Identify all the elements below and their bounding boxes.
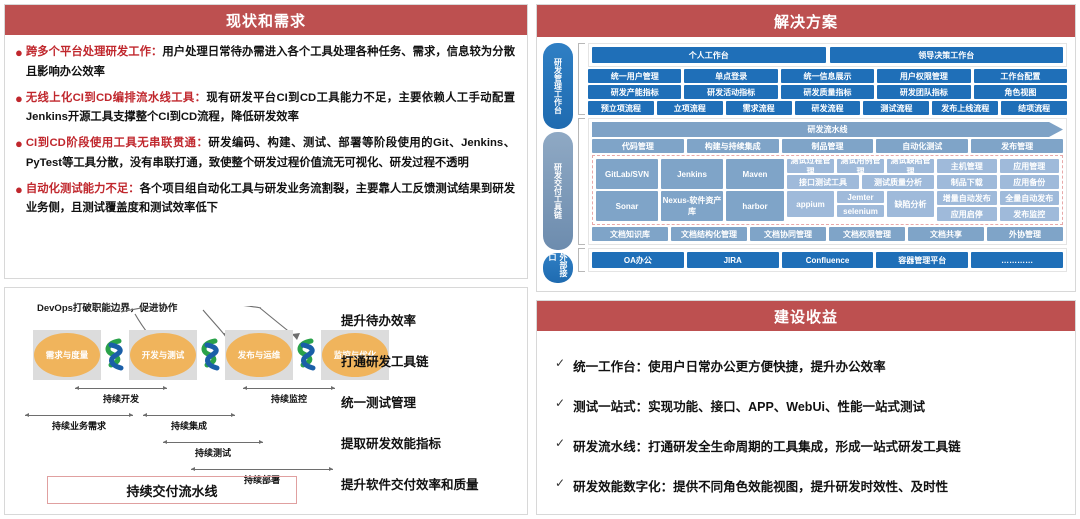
devops-diagram: DevOps打破职能边界，促进协作 需求与度量 (5, 288, 527, 514)
gains-card-header: 建设收益 (537, 301, 1075, 331)
solution-card-header: 解决方案 (537, 5, 1075, 37)
workbench-personal[interactable]: 个人工作台 (592, 47, 826, 63)
deploy-tile[interactable]: 应用启停 (937, 207, 997, 221)
bullet-lead: CI到CD阶段使用工具无串联贯通： (26, 137, 208, 149)
module-tile[interactable]: 统一信息展示 (781, 69, 874, 83)
workbench-group: 个人工作台 领导决策工作台 统一用户管理 单点登录 统一信息展示 用户权限管理 … (578, 43, 1067, 115)
module-tile[interactable]: 预立项流程 (588, 101, 654, 115)
deploy-tile[interactable]: 应用备份 (1000, 175, 1060, 189)
gain-lead: 研发效能数字化： (573, 480, 673, 494)
list-item: ● 自动化测试能力不足：各个项目组自动化工具与研发业务流割裂，主要靠人工反馈测试… (15, 180, 515, 220)
module-tile[interactable]: 研发流程 (795, 101, 861, 115)
test-tile-selenium[interactable]: selenium (837, 205, 884, 217)
doc-tile[interactable]: 文档结构化管理 (671, 227, 747, 241)
workbench-leader[interactable]: 领导决策工作台 (830, 47, 1064, 63)
devops-stage: 开发与测试 (129, 330, 197, 380)
list-item: ✓ 研发效能数字化：提供不同角色效能视图，提升研发时效性、及时性 (555, 476, 1059, 495)
bullet-dot-icon: ● (15, 89, 23, 109)
phase-arrow-line (243, 388, 335, 389)
module-tile[interactable]: 统一用户管理 (588, 69, 681, 83)
layer-tab-management-workbench: 研发管理工作台 (543, 43, 573, 129)
phase-arrow-label: 持续集成 (171, 419, 207, 432)
layer-tab-delivery-toolchain: 研发交付工具链 (543, 132, 573, 250)
gain-rest: 实现功能、接口、APP、WebUi、性能一站式测试 (648, 400, 925, 414)
toolchain-box: 研发流水线 代码管理 构建与持续集成 制品管理 自动化测试 发布管理 (588, 118, 1067, 245)
check-icon: ✓ (555, 396, 565, 410)
tool-tile[interactable]: Nexus-软件资产库 (661, 191, 723, 221)
check-icon: ✓ (555, 356, 565, 370)
architecture-diagram: 研发管理工作台 研发交付工具链 外部接口 个人工作台 领导决策工作台 (537, 37, 1075, 291)
tool-tile[interactable]: Maven (726, 159, 784, 189)
architecture-content: 个人工作台 领导决策工作台 统一用户管理 单点登录 统一信息展示 用户权限管理 … (578, 43, 1067, 287)
external-tile[interactable]: ………… (971, 252, 1063, 268)
check-icon: ✓ (555, 436, 565, 450)
list-item: ● 无线上化CI到CD编排流水线工具：现有研发平台CI到CD工具能力不足，主要依… (15, 89, 515, 129)
right-column: 解决方案 研发管理工作台 研发交付工具链 外部接口 个人工作台 领导决策工作 (536, 4, 1076, 515)
group-brace (578, 248, 585, 272)
deploy-tile[interactable]: 制品下载 (937, 175, 997, 189)
tool-column-artifact: Maven harbor (726, 159, 784, 221)
tool-tile[interactable]: Sonar (596, 191, 658, 221)
test-tile-jmeter[interactable]: Jemter (837, 191, 884, 203)
slide-root: 现状和需求 ● 跨多个平台处理研发工作：用户处理日常待办需进入各个工具处理各种任… (0, 0, 1080, 519)
devops-diagram-card: DevOps打破职能边界，促进协作 需求与度量 (4, 287, 528, 515)
tool-column-code: GitLab/SVN Sonar (596, 159, 658, 221)
module-tile[interactable]: 研发活动指标 (684, 85, 777, 99)
gain-lead: 统一工作台： (573, 360, 648, 374)
doc-tile[interactable]: 文档知识库 (592, 227, 668, 241)
bullet-lead: 无线上化CI到CD编排流水线工具： (26, 92, 206, 104)
external-tile[interactable]: 容器管理平台 (876, 252, 968, 268)
gain-rest: 使用户日常办公更方便快捷，提升办公效率 (648, 360, 886, 374)
deploy-tile[interactable]: 应用管理 (1000, 159, 1060, 173)
workbench-row: 统一用户管理 单点登录 统一信息展示 用户权限管理 工作台配置 (588, 69, 1067, 83)
list-item: 打通研发工具链 (341, 351, 519, 370)
check-icon: ✓ (555, 476, 565, 490)
list-item: ● 跨多个平台处理研发工作：用户处理日常待办需进入各个工具处理各种任务、需求，信… (15, 43, 515, 83)
gain-rest: 打通研发全生命周期的工具集成，形成一站式研发工具链 (648, 440, 961, 454)
group-brace (578, 118, 585, 245)
deploy-tile[interactable]: 主机管理 (937, 159, 997, 173)
workbench-row: 预立项流程 立项流程 需求流程 研发流程 测试流程 发布上线流程 结项流程 (588, 101, 1067, 115)
gain-rest: 提供不同角色效能视图，提升研发时效性、及时性 (673, 480, 948, 494)
test-tile[interactable]: 测试质量分析 (862, 175, 934, 189)
list-item: 提取研发效能指标 (341, 433, 519, 452)
status-bullet-list: ● 跨多个平台处理研发工作：用户处理日常待办需进入各个工具处理各种任务、需求，信… (5, 35, 527, 229)
module-tile[interactable]: 研发产能指标 (588, 85, 681, 99)
arrow-row: 持续业务需求 持续集成 (23, 411, 333, 438)
module-tile[interactable]: 发布上线流程 (932, 101, 998, 115)
phase-arrow-label: 持续监控 (271, 392, 307, 405)
module-tile[interactable]: 测试流程 (863, 101, 929, 115)
architecture-layer-tabs: 研发管理工作台 研发交付工具链 外部接口 (543, 43, 573, 287)
pipeline-stage[interactable]: 构建与持续集成 (687, 139, 779, 153)
external-tile[interactable]: JIRA (687, 252, 779, 268)
bullet-lead: 跨多个平台处理研发工作： (26, 46, 163, 58)
module-tile[interactable]: 角色视图 (974, 85, 1067, 99)
devops-stage-label: 开发与测试 (130, 333, 196, 377)
phase-arrow-line (191, 469, 333, 470)
module-tile[interactable]: 单点登录 (684, 69, 777, 83)
list-item: 提升软件交付效率和质量 (341, 474, 519, 493)
workbench-top-row: 个人工作台 领导决策工作台 (588, 43, 1067, 67)
module-tile[interactable]: 研发团队指标 (877, 85, 970, 99)
arrow-row: 持续测试 (23, 438, 333, 465)
bullet-dot-icon: ● (15, 43, 23, 63)
gain-lead: 研发流水线： (573, 440, 648, 454)
test-tile[interactable]: 测试用例管理 (837, 159, 884, 173)
toolchain-group: 研发流水线 代码管理 构建与持续集成 制品管理 自动化测试 发布管理 (578, 118, 1067, 245)
deploy-tile[interactable]: 全量自动发布 (1000, 191, 1060, 205)
test-tile[interactable]: 测试缺陷管理 (887, 159, 934, 173)
infinity-link-icon (102, 338, 128, 372)
module-tile[interactable]: 用户权限管理 (877, 69, 970, 83)
phase-arrow-line (143, 415, 235, 416)
gains-list: ✓ 统一工作台：使用户日常办公更方便快捷，提升办公效率 ✓ 测试一站式：实现功能… (537, 331, 1075, 514)
tool-column-test: 测试过程管理 测试用例管理 测试缺陷管理 接口测试工具 测试质量分析 (787, 159, 934, 221)
infinity-link-icon (198, 338, 224, 372)
phase-arrow-line (75, 388, 167, 389)
left-column: 现状和需求 ● 跨多个平台处理研发工作：用户处理日常待办需进入各个工具处理各种任… (4, 4, 528, 515)
deploy-tile[interactable]: 发布监控 (1000, 207, 1060, 221)
list-item: ✓ 研发流水线：打通研发全生命周期的工具集成，形成一站式研发工具链 (555, 436, 1059, 455)
pipeline-stage[interactable]: 代码管理 (592, 139, 684, 153)
external-tile[interactable]: Confluence (782, 252, 874, 268)
pipeline-arrow-bar: 研发流水线 (592, 122, 1063, 137)
tool-column-deploy: 主机管理 应用管理 制品下载 应用备份 增量自动发布 (937, 159, 1059, 221)
continuous-delivery-pipeline-box: 持续交付流水线 (47, 476, 297, 504)
list-item: 统一测试管理 (341, 392, 519, 411)
external-tile[interactable]: OA办公 (592, 252, 684, 268)
module-tile[interactable]: 工作台配置 (974, 69, 1067, 83)
test-tile[interactable]: 测试过程管理 (787, 159, 834, 173)
group-brace (578, 43, 585, 115)
bullet-dot-icon: ● (15, 180, 23, 200)
module-tile[interactable]: 研发质量指标 (781, 85, 874, 99)
external-row: OA办公 JIRA Confluence 容器管理平台 ………… (588, 248, 1067, 272)
workbench-row: 研发产能指标 研发活动指标 研发质量指标 研发团队指标 角色视图 (588, 85, 1067, 99)
pipeline-stage[interactable]: 发布管理 (971, 139, 1063, 153)
tool-column-build: Jenkins Nexus-软件资产库 (661, 159, 723, 221)
status-card-header: 现状和需求 (5, 5, 527, 35)
phase-arrow-line (25, 415, 133, 416)
tool-tile[interactable]: GitLab/SVN (596, 159, 658, 189)
doc-tile[interactable]: 外协管理 (987, 227, 1063, 241)
pipeline-stage[interactable]: 自动化测试 (876, 139, 968, 153)
gains-card: 建设收益 ✓ 统一工作台：使用户日常办公更方便快捷，提升办公效率 ✓ 测试一站式… (536, 300, 1076, 515)
test-tile[interactable]: 接口测试工具 (787, 175, 859, 189)
list-item: ✓ 统一工作台：使用户日常办公更方便快捷，提升办公效率 (555, 356, 1059, 375)
devops-stage-row: 需求与度量 开发与测试 (33, 330, 389, 380)
devops-stage: 需求与度量 (33, 330, 101, 380)
devops-stage-label: 发布与运维 (226, 333, 292, 377)
bullet-lead: 自动化测试能力不足： (26, 183, 140, 195)
phase-arrow-label: 持续测试 (195, 446, 231, 459)
tool-tile[interactable]: Jenkins (661, 159, 723, 189)
left-benefit-list: 提升待办效率 打通研发工具链 统一测试管理 提取研发效能指标 提升软件交付效率和… (341, 310, 519, 515)
list-item: ✓ 测试一站式：实现功能、接口、APP、WebUi、性能一站式测试 (555, 396, 1059, 415)
tool-detail-box: GitLab/SVN Sonar Jenkins Nexus-软件资产库 Mav… (592, 155, 1063, 225)
test-tile-defect-analysis[interactable]: 缺陷分析 (887, 191, 934, 217)
solution-card: 解决方案 研发管理工作台 研发交付工具链 外部接口 个人工作台 领导决策工作 (536, 4, 1076, 292)
devops-stage: 发布与运维 (225, 330, 293, 380)
list-item: 提升待办效率 (341, 310, 519, 329)
devops-stage-label: 需求与度量 (34, 333, 100, 377)
module-tile[interactable]: 结项流程 (1001, 101, 1067, 115)
test-tile-appium[interactable]: appium (787, 191, 834, 217)
status-and-requirements-card: 现状和需求 ● 跨多个平台处理研发工作：用户处理日常待办需进入各个工具处理各种任… (4, 4, 528, 279)
layer-tab-external-interface: 外部接口 (543, 253, 573, 283)
phase-arrow-label: 持续开发 (103, 392, 139, 405)
pipeline-stage-row: 代码管理 构建与持续集成 制品管理 自动化测试 发布管理 (592, 139, 1063, 153)
bullet-dot-icon: ● (15, 134, 23, 154)
external-group: OA办公 JIRA Confluence 容器管理平台 ………… (578, 248, 1067, 272)
doc-tile[interactable]: 文档协同管理 (750, 227, 826, 241)
gain-lead: 测试一站式： (573, 400, 648, 414)
doc-tile[interactable]: 文档权限管理 (829, 227, 905, 241)
arrow-row: 持续开发 持续监控 (23, 384, 333, 411)
phase-arrow-line (163, 442, 263, 443)
module-tile[interactable]: 需求流程 (726, 101, 792, 115)
infinity-link-icon (294, 338, 320, 372)
doc-tile[interactable]: 文档共享 (908, 227, 984, 241)
list-item: ● CI到CD阶段使用工具无串联贯通：研发编码、构建、测试、部署等阶段使用的Gi… (15, 134, 515, 174)
phase-arrow-label: 持续业务需求 (52, 419, 106, 432)
deploy-tile[interactable]: 增量自动发布 (937, 191, 997, 205)
module-tile[interactable]: 立项流程 (657, 101, 723, 115)
tool-tile[interactable]: harbor (726, 191, 784, 221)
pipeline-stage[interactable]: 制品管理 (782, 139, 874, 153)
document-row: 文档知识库 文档结构化管理 文档协同管理 文档权限管理 文档共享 外协管理 (592, 227, 1063, 241)
